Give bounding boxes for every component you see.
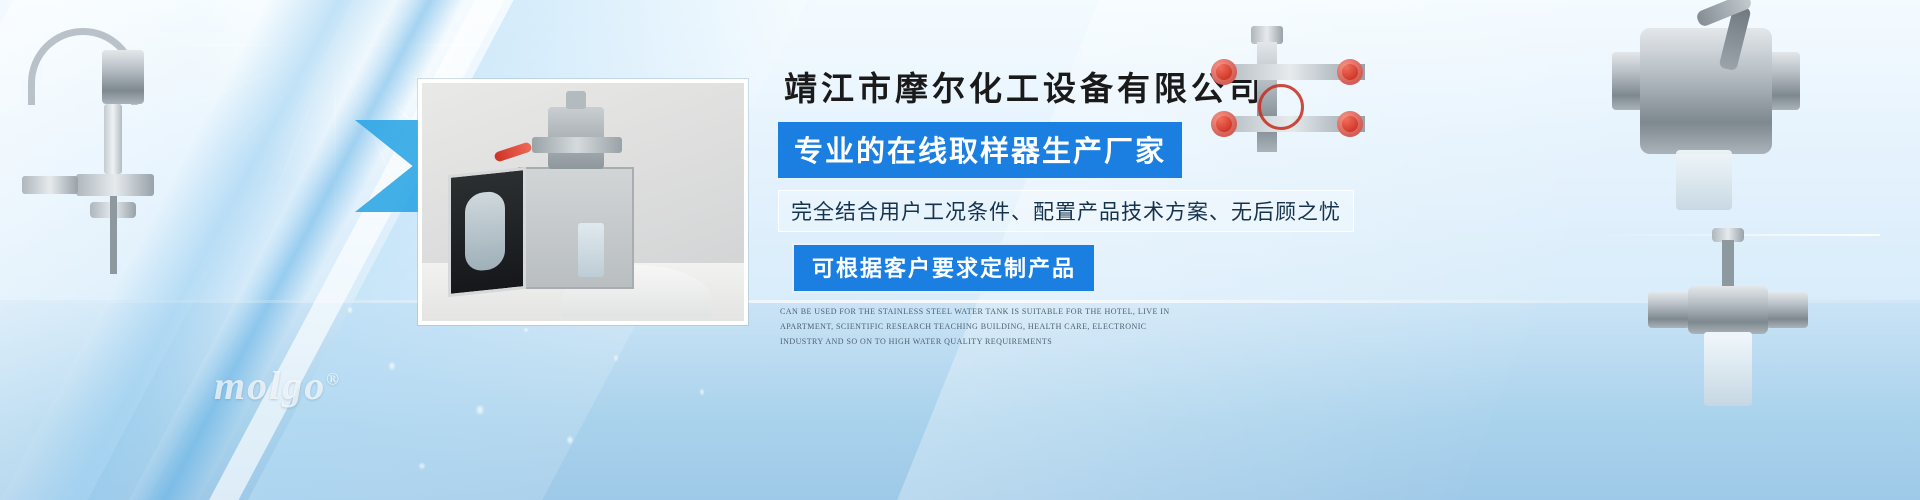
watermark-logo: molgo® — [214, 362, 341, 409]
right-valve-image — [1640, 28, 1772, 154]
red-handwheel-icon — [1211, 111, 1237, 137]
valve-sight-glass — [1676, 150, 1732, 210]
red-handwheel-icon — [1211, 59, 1237, 85]
registered-mark: ® — [326, 370, 341, 389]
tagline-badge: 专业的在线取样器生产厂家 — [778, 122, 1182, 178]
custom-product-badge: 可根据客户要求定制产品 — [792, 243, 1096, 293]
company-seal-icon — [1258, 84, 1304, 130]
bottom-sampler-image — [1642, 240, 1818, 420]
red-handwheel-icon — [1337, 111, 1363, 137]
subline-text: 完全结合用户工况条件、配置产品技术方案、无后顾之忧 — [778, 190, 1354, 232]
left-equipment-image — [18, 24, 158, 324]
english-description: CAN BE USED FOR THE STAINLESS STEEL WATE… — [780, 305, 1190, 349]
watermark-text: molgo — [214, 363, 326, 408]
red-handwheel-icon — [1337, 59, 1363, 85]
valve-flange-right — [1768, 52, 1800, 110]
promo-banner: 靖江市摩尔化工设备有限公司 专业的在线取样器生产厂家 完全结合用户工况条件、配置… — [0, 0, 1920, 500]
product-photo — [418, 79, 748, 325]
